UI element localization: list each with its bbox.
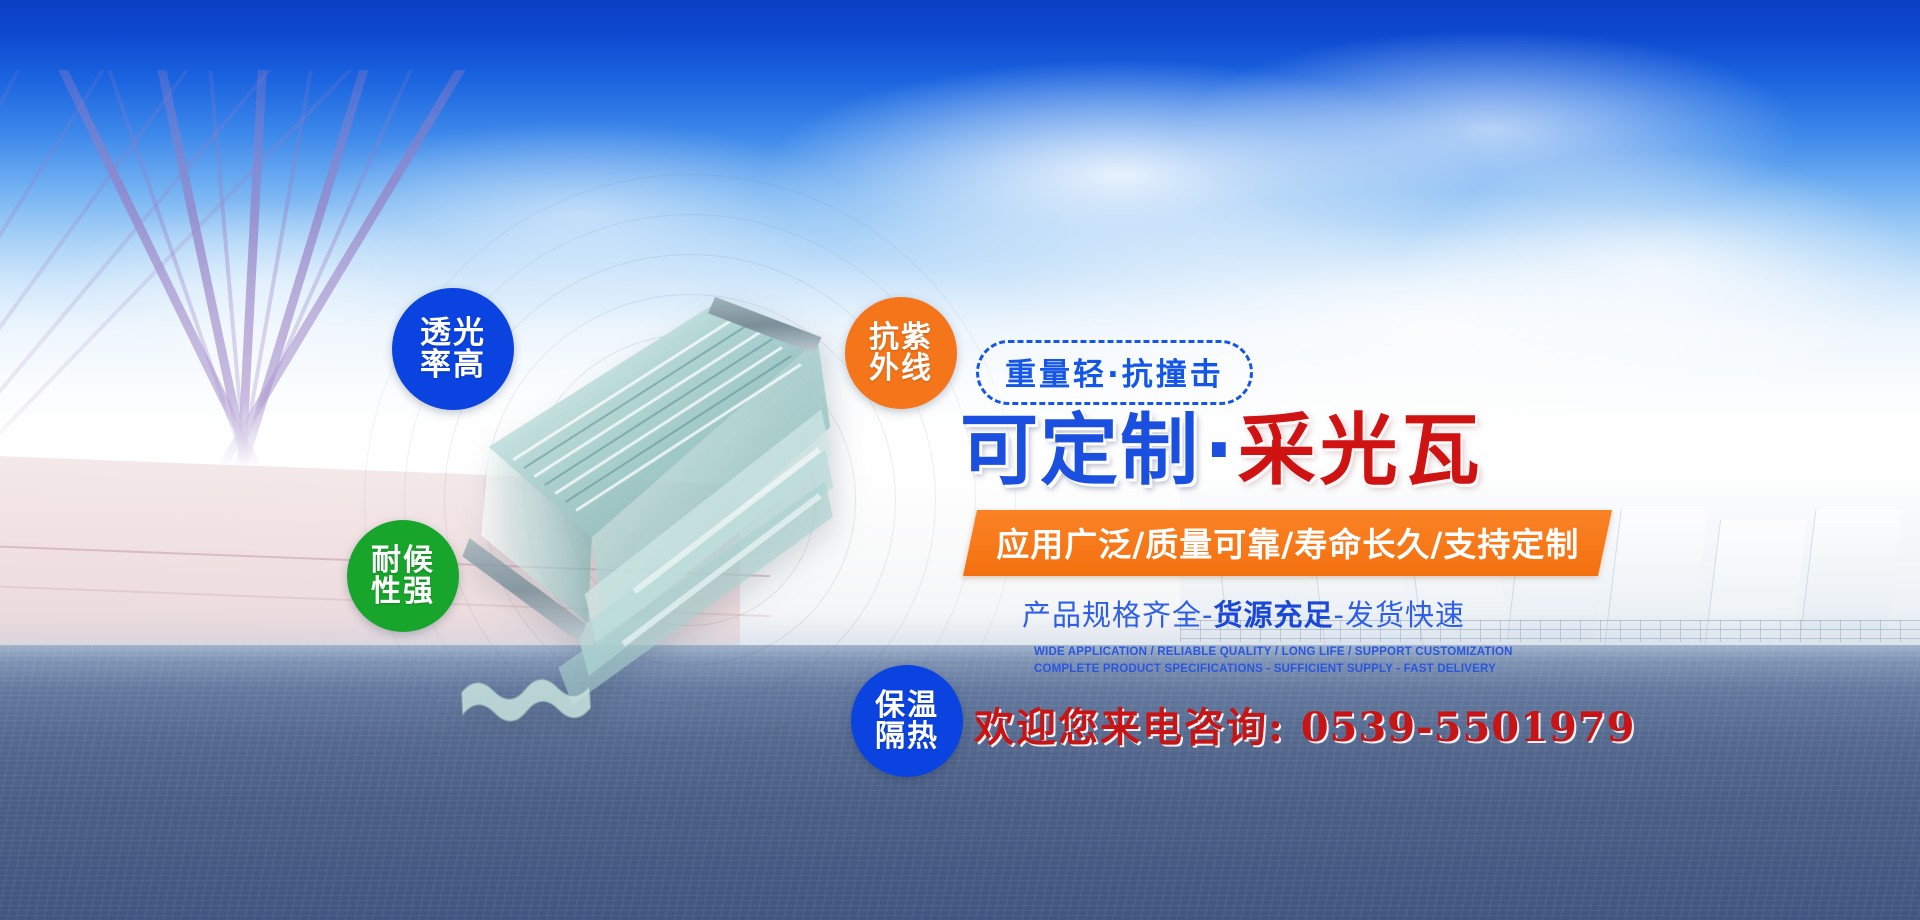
badge-light-transmittance: 透光 率高 [392, 288, 514, 410]
badge-line-2: 外线 [869, 353, 933, 384]
badge-line-2: 隔热 [875, 721, 939, 752]
subline-dash-2: - [1334, 598, 1345, 632]
page-title: 可定制·采光瓦 [960, 411, 1610, 492]
contact-phone[interactable]: 欢迎您来电咨询: 0539-5501979 [974, 695, 1610, 753]
badge-line-1: 耐候 [371, 545, 435, 576]
headline-red-text: 采光瓦 [1238, 405, 1484, 496]
badge-weather-resistance: 耐候 性强 [347, 520, 459, 632]
subline-dash-1: - [1202, 598, 1213, 632]
marketing-copy-block: 重量轻·抗撞击 可定制·采光瓦 应用广泛/质量可靠/寿命长久/支持定制 产品规格… [960, 340, 1610, 753]
promo-banner: 透光 率高 抗紫 外线 耐候 性强 保温 隔热 重量轻·抗撞击 可定制·采光瓦 … [0, 0, 1920, 920]
headline-separator-dot: · [1204, 406, 1234, 496]
badge-line-2: 率高 [420, 349, 486, 381]
phone-number[interactable]: 0539-5501979 [1301, 704, 1636, 751]
subline-part-1: 产品规格齐全 [1022, 598, 1202, 632]
supply-subline: 产品规格齐全-货源充足-发货快速 [1022, 592, 1610, 634]
badge-line-1: 透光 [420, 317, 486, 349]
subline-part-2: 发货快速 [1345, 598, 1465, 632]
phone-label: 欢迎您来电咨询: [974, 704, 1285, 751]
english-tagline-line-1: WIDE APPLICATION / RELIABLE QUALITY / LO… [1034, 644, 1610, 662]
badge-thermal-insulation: 保温 隔热 [851, 665, 963, 777]
badge-line-2: 性强 [371, 576, 435, 607]
subline-strong: 货源充足 [1213, 598, 1333, 632]
english-tagline-line-2: COMPLETE PRODUCT SPECIFICATIONS - SUFFIC… [1034, 661, 1610, 679]
headline-blue-text: 可定制 [960, 406, 1200, 496]
features-orange-bar-label: 应用广泛/质量可靠/寿命长久/支持定制 [996, 518, 1579, 566]
kicker-badge: 重量轻·抗撞击 [976, 340, 1253, 405]
badge-line-1: 保温 [875, 690, 939, 721]
features-orange-bar: 应用广泛/质量可靠/寿命长久/支持定制 [963, 510, 1612, 576]
english-tagline: WIDE APPLICATION / RELIABLE QUALITY / LO… [1034, 644, 1610, 680]
badge-line-1: 抗紫 [869, 322, 933, 353]
badge-uv-resistance: 抗紫 外线 [845, 297, 957, 409]
